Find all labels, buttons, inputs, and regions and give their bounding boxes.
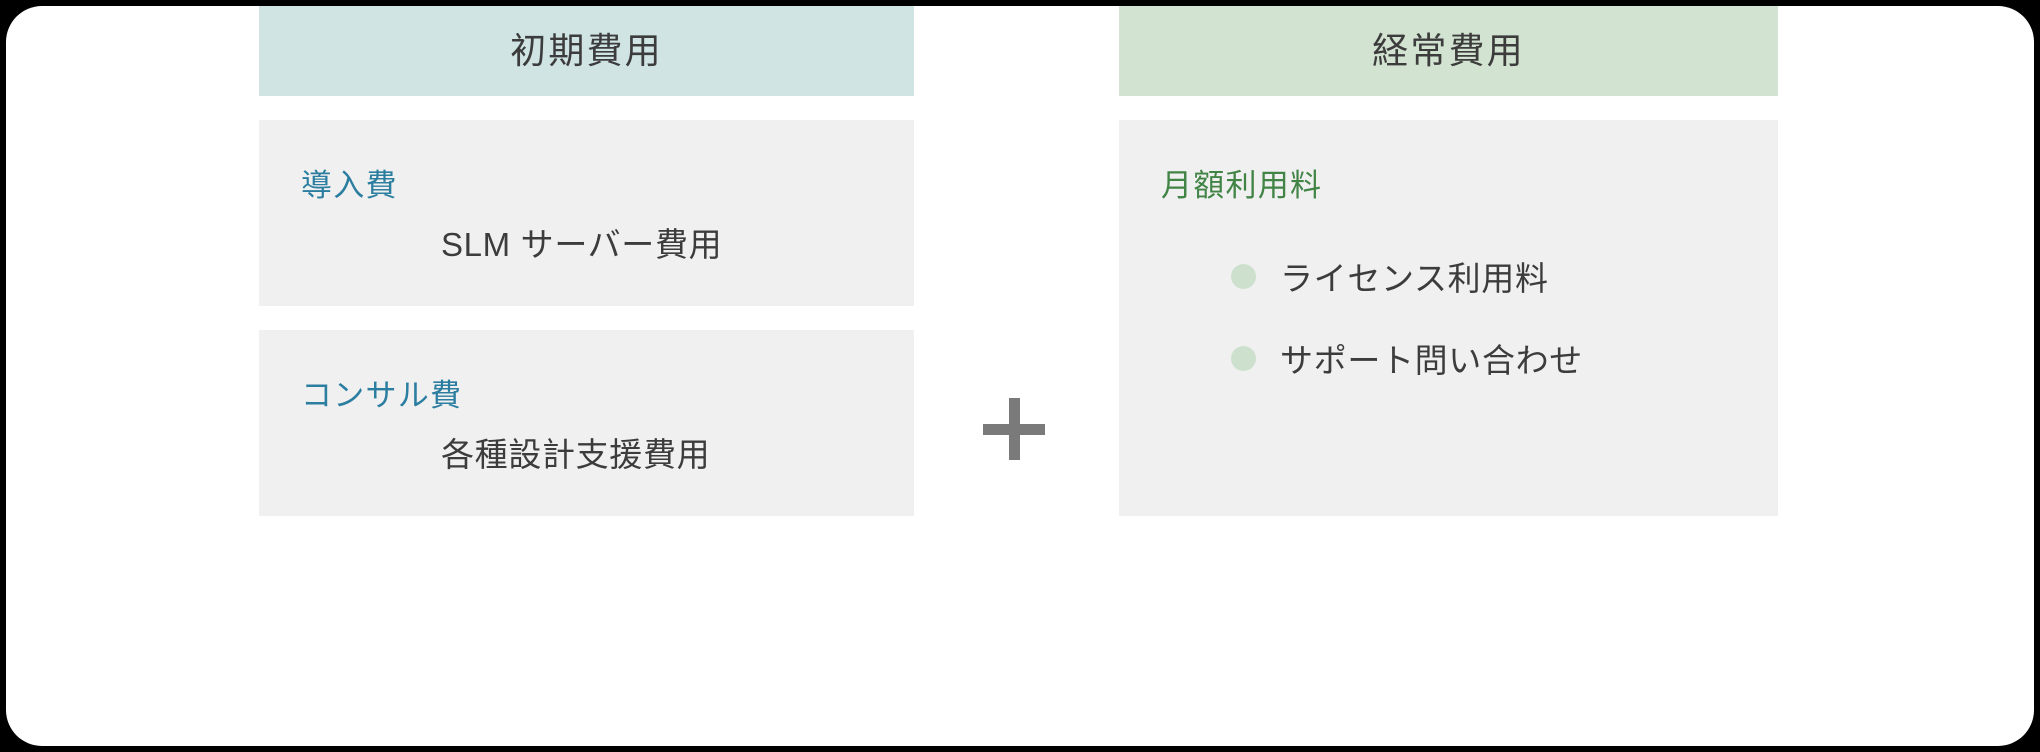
column-header-initial: 初期費用: [259, 6, 914, 96]
panel-install-cost: 導入費 SLM サーバー費用: [259, 120, 914, 306]
figure-card: 初期費用 導入費 SLM サーバー費用 コンサル費 各種設計支援費用 経常費用 …: [6, 6, 2034, 746]
bullet-dot-icon: [1231, 264, 1256, 289]
plus-bar-vertical: [1009, 398, 1020, 460]
list-item-label: サポート問い合わせ: [1280, 334, 1583, 382]
panel-monthly-fee: 月額利用料 ライセンス利用料 サポート問い合わせ: [1119, 120, 1778, 516]
cost-column-initial: 初期費用 導入費 SLM サーバー費用 コンサル費 各種設計支援費用: [259, 6, 914, 516]
panel-detail-consulting: 各種設計支援費用: [441, 428, 710, 476]
panel-label-consulting: コンサル費: [301, 370, 462, 415]
bullet-dot-icon: [1231, 346, 1256, 371]
column-header-recurring: 経常費用: [1119, 6, 1778, 96]
list-item: ライセンス利用料: [1231, 248, 1583, 304]
recurring-item-list: ライセンス利用料 サポート問い合わせ: [1231, 248, 1583, 412]
panel-detail-install: SLM サーバー費用: [441, 218, 722, 266]
list-item: サポート問い合わせ: [1231, 330, 1583, 386]
plus-sign-icon: [983, 398, 1045, 460]
list-item-label: ライセンス利用料: [1280, 252, 1549, 300]
panel-label-install: 導入費: [301, 160, 398, 205]
cost-column-recurring: 経常費用 月額利用料 ライセンス利用料 サポート問い合わせ: [1119, 6, 1778, 516]
panel-label-monthly: 月額利用料: [1161, 160, 1322, 205]
panel-consulting-cost: コンサル費 各種設計支援費用: [259, 330, 914, 516]
